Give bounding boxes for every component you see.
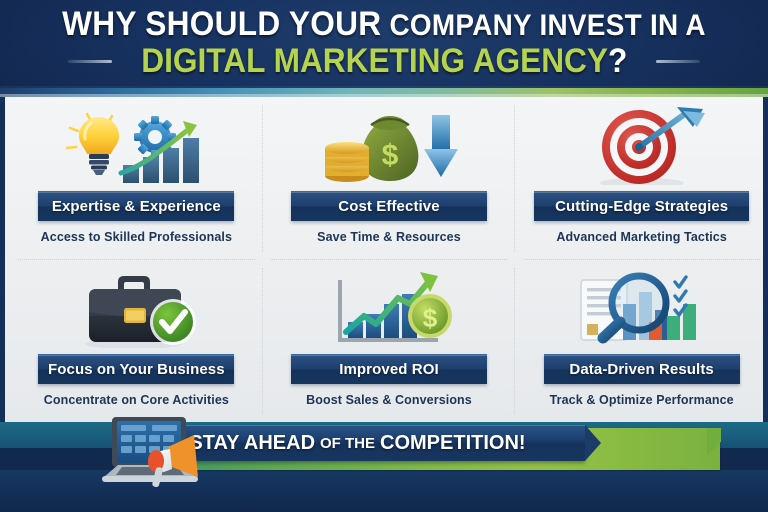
target-dart-icon [562,107,722,185]
card-improved-roi[interactable]: $ Improved ROI Boost Sales & Conversions [263,260,516,423]
svg-text:$: $ [382,139,399,172]
header-line-2: DIGITAL MARKETING AGENCY? [141,42,627,80]
card-title: Improved ROI [291,354,487,384]
header-line-1: WHY SHOULD YOUR COMPANY INVEST IN A [27,7,741,43]
card-subtitle: Save Time & Resources [317,230,461,244]
card-subtitle: Advanced Marketing Tactics [556,230,726,244]
card-subtitle: Concentrate on Core Activities [44,393,229,407]
card-subtitle: Boost Sales & Conversions [306,393,472,407]
card-subtitle: Access to Skilled Professionals [41,230,232,244]
card-cost-effective[interactable]: $ [263,97,516,260]
card-title: Cost Effective [291,191,487,221]
briefcase-checkmark-icon [56,270,216,348]
card-subtitle: Track & Optimize Performance [550,393,734,407]
header-line-2-text: DIGITAL MARKETING AGENCY [141,42,608,80]
card-focus-on-your-business[interactable]: Focus on Your Business Concentrate on Co… [10,260,263,423]
card-expertise-experience[interactable]: Expertise & Experience Access to Skilled… [10,97,263,260]
lightbulb-gear-growth-icon [56,107,216,185]
laptop-megaphone-icon [100,413,215,488]
cards-grid: Expertise & Experience Access to Skilled… [10,97,768,422]
header-line-1-emphasis: WHY SHOULD YOUR [62,5,381,43]
card-title: Data-Driven Results [544,354,740,384]
cards-panel: Expertise & Experience Access to Skilled… [0,97,768,422]
infographic-poster: WHY SHOULD YOUR COMPANY INVEST IN A DIGI… [0,0,768,512]
header-banner: WHY SHOULD YOUR COMPANY INVEST IN A DIGI… [0,0,768,88]
header-line-1-rest: COMPANY INVEST IN A [389,9,705,42]
card-data-driven-results[interactable]: Data-Driven Results Track & Optimize Per… [515,260,768,423]
footer-cta-part2: OF THE [320,435,375,452]
card-title: Cutting-Edge Strategies [534,191,749,221]
card-cutting-edge-strategies[interactable]: Cutting-Edge Strategies Advanced Marketi… [515,97,768,260]
card-title: Focus on Your Business [38,354,234,384]
magnifier-chart-checklist-icon [562,270,722,348]
svg-text:$: $ [423,303,438,333]
bar-chart-arrow-dollar-coin-icon: $ [309,270,469,348]
header-gradient-rule [0,88,768,97]
decorative-dash-right-icon [656,60,700,63]
ribbon-tail-icon [585,425,601,461]
card-title: Expertise & Experience [38,191,234,221]
header-line-2-row: DIGITAL MARKETING AGENCY? [0,42,768,80]
footer-cta-part3: COMPETITION! [380,432,526,455]
header-question-mark: ? [608,42,627,80]
money-bag-down-arrow-icon: $ [309,107,469,185]
decorative-dash-left-icon [68,60,112,63]
